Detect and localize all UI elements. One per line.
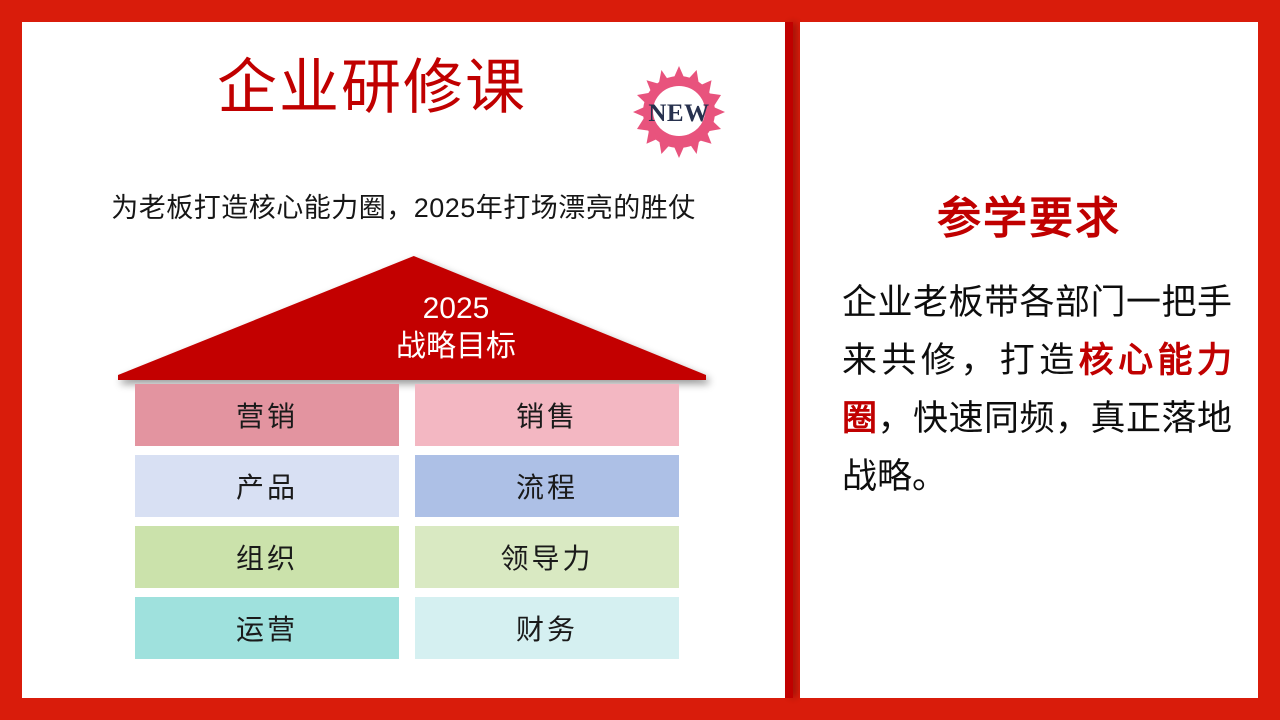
pillar-label: 领导力	[500, 537, 593, 577]
roof-label-goal: 战略目标	[162, 328, 750, 366]
page-title: 企业研修课	[22, 56, 722, 119]
pillar-label: 运营	[236, 608, 298, 648]
new-badge-label: NEW	[648, 100, 709, 127]
pillar-block-leadership[interactable]: 领导力	[415, 526, 679, 588]
pillar-label: 流程	[516, 466, 578, 506]
panel-divider	[785, 22, 793, 698]
pillar-block-organization[interactable]: 组织	[135, 526, 399, 588]
pillar-block-grid: 营销 销售 产品 流程 组织 领导力 运营	[135, 384, 679, 660]
pillar-label: 产品	[236, 466, 298, 506]
starburst-badge-icon: NEW	[629, 62, 729, 162]
requirements-body-part2: ，快速同频，真正落地战略。	[842, 399, 1232, 496]
subtitle-text: 为老板打造核心能力圈，2025年打场漂亮的胜仗	[22, 186, 785, 225]
roof-label: 2025 战略目标	[162, 290, 750, 365]
pillar-block-process[interactable]: 流程	[415, 455, 679, 517]
pillar-label: 财务	[516, 608, 578, 648]
requirements-body: 企业老板带各部门一把手来共修，打造核心能力圈，快速同频，真正落地战略。	[842, 274, 1232, 506]
pillar-block-finance[interactable]: 财务	[415, 597, 679, 659]
pillar-block-product[interactable]: 产品	[135, 455, 399, 517]
pillar-label: 组织	[236, 537, 298, 577]
pillar-label: 营销	[236, 395, 298, 435]
requirements-heading: 参学要求	[800, 182, 1258, 246]
slide-canvas: 企业研修课	[0, 0, 1280, 720]
right-content-panel: 参学要求 企业老板带各部门一把手来共修，打造核心能力圈，快速同频，真正落地战略。	[800, 22, 1258, 698]
pillar-block-operations[interactable]: 运营	[135, 597, 399, 659]
left-content-panel: 企业研修课	[22, 22, 785, 698]
house-roof	[118, 256, 706, 380]
roof-label-year: 2025	[162, 290, 750, 328]
pillar-block-sales[interactable]: 销售	[415, 384, 679, 446]
pillar-label: 销售	[516, 395, 578, 435]
pillar-block-marketing[interactable]: 营销	[135, 384, 399, 446]
new-badge: NEW	[629, 62, 729, 162]
